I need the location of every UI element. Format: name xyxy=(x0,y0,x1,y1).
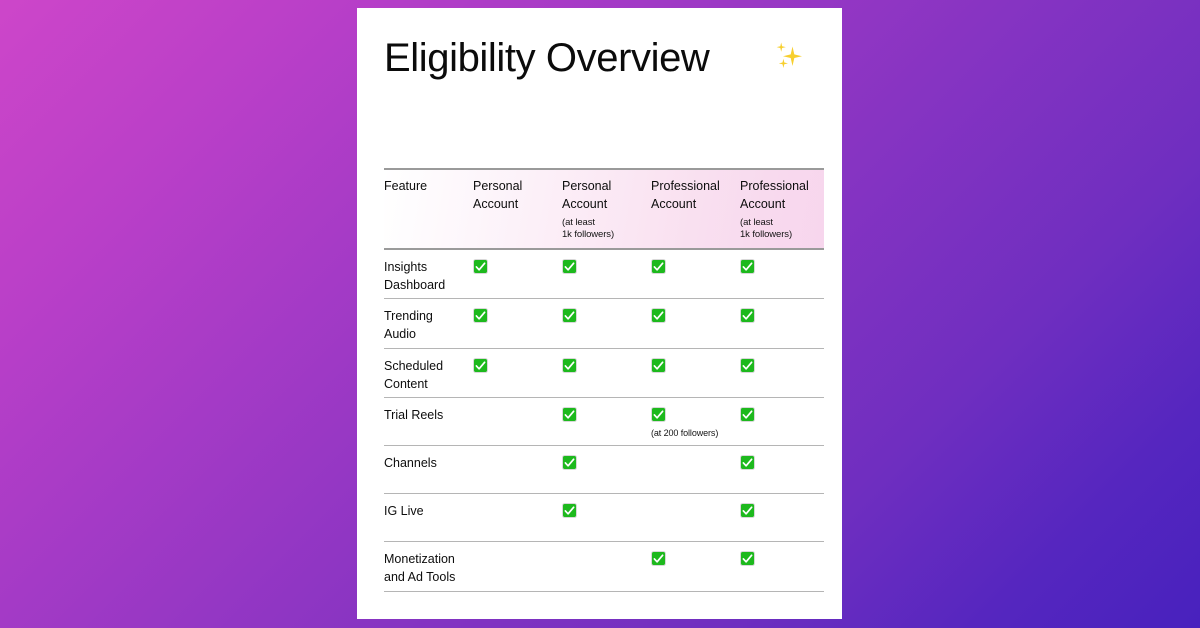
table-header-row: Feature Personal Account Personal Accoun… xyxy=(384,170,824,248)
cell-unsupported xyxy=(651,455,740,489)
cell-supported xyxy=(562,259,651,295)
cell-unsupported xyxy=(473,455,562,489)
cell-supported xyxy=(562,308,651,344)
cell-supported xyxy=(651,551,740,587)
cell-unsupported xyxy=(473,503,562,537)
table-body: InsightsDashboardTrendingAudioScheduledC… xyxy=(384,250,824,592)
cell-unsupported xyxy=(562,551,651,587)
sparkles-icon xyxy=(771,39,805,73)
cell-supported xyxy=(473,308,562,344)
check-mark-icon xyxy=(562,407,577,422)
eligibility-table: Feature Personal Account Personal Accoun… xyxy=(384,168,824,592)
cell-blank xyxy=(651,455,666,470)
cell-unsupported xyxy=(473,407,562,441)
check-mark-icon xyxy=(651,358,666,373)
check-mark-icon xyxy=(740,455,755,470)
cell-supported xyxy=(740,455,824,489)
check-mark-icon xyxy=(562,358,577,373)
row-feature-label: IG Live xyxy=(384,503,473,537)
cell-supported: (at 200 followers) xyxy=(651,407,740,441)
row-divider xyxy=(384,591,824,592)
check-mark-icon xyxy=(473,358,488,373)
check-mark-icon xyxy=(651,259,666,274)
cell-blank xyxy=(473,503,488,518)
row-feature-label: TrendingAudio xyxy=(384,308,473,344)
check-mark-icon xyxy=(651,308,666,323)
cell-unsupported xyxy=(473,551,562,587)
table-row: IG Live xyxy=(384,494,824,541)
check-mark-icon xyxy=(740,358,755,373)
cell-blank xyxy=(651,503,666,518)
check-mark-icon xyxy=(740,551,755,566)
check-mark-icon xyxy=(740,259,755,274)
cell-supported xyxy=(740,259,824,295)
table-row: ScheduledContent xyxy=(384,349,824,398)
table-row: InsightsDashboard xyxy=(384,250,824,299)
column-header-personal-account: Personal Account xyxy=(473,178,562,242)
eligibility-card: Eligibility Overview Feature Personal Ac… xyxy=(357,8,842,619)
table-row: Channels xyxy=(384,446,824,493)
cell-note: (at 200 followers) xyxy=(651,428,718,440)
cell-blank xyxy=(473,551,488,566)
page-title: Eligibility Overview xyxy=(384,37,709,79)
cell-supported xyxy=(651,308,740,344)
cell-blank xyxy=(473,455,488,470)
cell-supported xyxy=(651,259,740,295)
cell-supported xyxy=(651,358,740,394)
cell-supported xyxy=(740,503,824,537)
table-row: Trial Reels(at 200 followers) xyxy=(384,398,824,445)
cell-supported xyxy=(740,308,824,344)
check-mark-icon xyxy=(562,259,577,274)
row-feature-label: InsightsDashboard xyxy=(384,259,473,295)
check-mark-icon xyxy=(740,308,755,323)
cell-supported xyxy=(473,259,562,295)
column-header-subnote: (at least1k followers) xyxy=(562,217,645,242)
table-row: Monetizationand Ad Tools xyxy=(384,542,824,591)
check-mark-icon xyxy=(651,551,666,566)
row-feature-label: Channels xyxy=(384,455,473,489)
column-header-personal-account-1k: Personal Account (at least1k followers) xyxy=(562,178,651,242)
cell-supported xyxy=(473,358,562,394)
row-feature-label: Monetizationand Ad Tools xyxy=(384,551,473,587)
card-header: Eligibility Overview xyxy=(384,30,815,86)
check-mark-icon xyxy=(473,308,488,323)
row-feature-label: Trial Reels xyxy=(384,407,473,441)
cell-supported xyxy=(562,455,651,489)
check-mark-icon xyxy=(740,503,755,518)
check-mark-icon xyxy=(562,455,577,470)
cell-supported xyxy=(562,503,651,537)
column-header-professional-account: Professional Account xyxy=(651,178,740,242)
column-header-subnote: (at least1k followers) xyxy=(740,217,818,242)
column-header-professional-account-1k: Professional Account (at least1k followe… xyxy=(740,178,824,242)
cell-unsupported xyxy=(651,503,740,537)
cell-supported xyxy=(740,358,824,394)
row-feature-label: ScheduledContent xyxy=(384,358,473,394)
cell-supported xyxy=(740,407,824,441)
column-header-feature: Feature xyxy=(384,178,473,242)
check-mark-icon xyxy=(740,407,755,422)
table-row: TrendingAudio xyxy=(384,299,824,348)
cell-blank xyxy=(562,551,577,566)
cell-blank xyxy=(473,407,488,422)
check-mark-icon xyxy=(562,503,577,518)
check-mark-icon xyxy=(562,308,577,323)
cell-supported xyxy=(562,407,651,441)
cell-supported xyxy=(562,358,651,394)
check-mark-icon xyxy=(473,259,488,274)
cell-supported xyxy=(740,551,824,587)
check-mark-icon xyxy=(651,407,666,422)
